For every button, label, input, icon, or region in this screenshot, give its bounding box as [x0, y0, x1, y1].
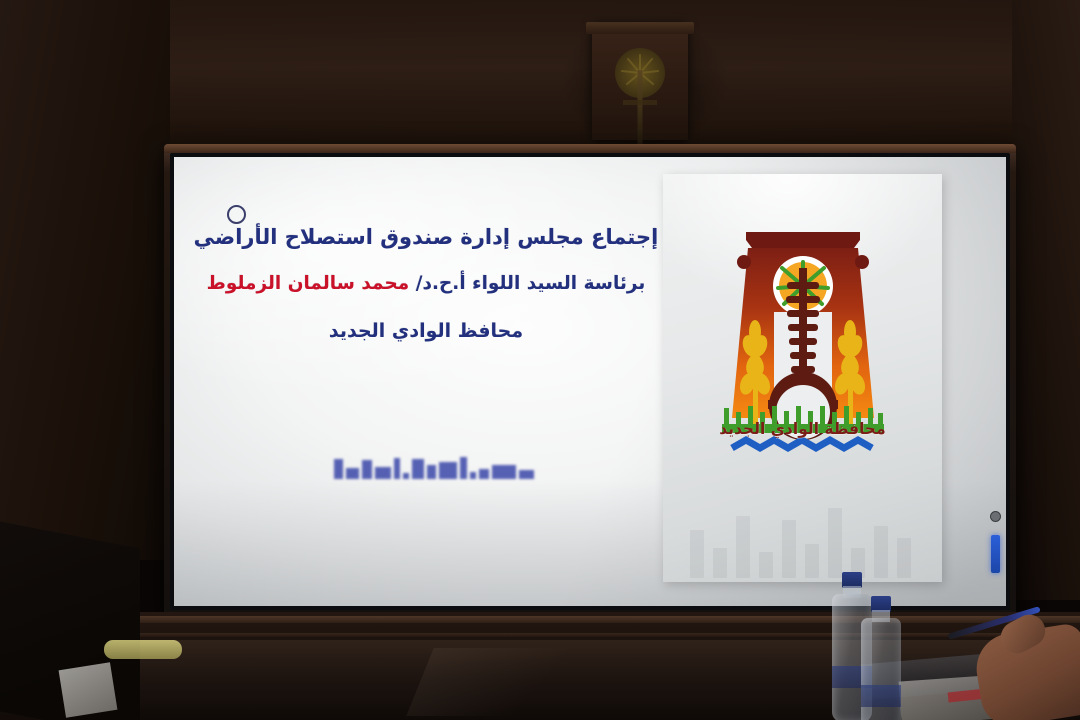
slide-line-2-blue: برئاسة السيد اللواء أ.ح.د/: [409, 273, 645, 294]
back-wall-right: [1012, 0, 1080, 600]
slide-line-2: برئاسة السيد اللواء أ.ح.د/ محمد سالمان ا…: [176, 273, 676, 294]
table-reflection: [406, 648, 633, 716]
redaction-block: [492, 465, 515, 479]
watermark-bar: [736, 516, 750, 578]
table-edge-highlight-2: [60, 633, 1080, 637]
slide-line-2-red: محمد سالمان الزملوط: [207, 273, 410, 294]
redaction-block: [460, 457, 467, 479]
plaque-stem: [638, 70, 643, 144]
power-led: [991, 535, 1000, 573]
redaction-block: [439, 462, 456, 479]
panel-watermark: [690, 500, 930, 578]
watermark-bar: [897, 538, 911, 578]
redaction-block: [519, 470, 535, 479]
redaction-block: [403, 473, 409, 479]
slide-bullet-marker: [227, 205, 246, 224]
bottle-label: [861, 685, 901, 707]
watermark-bar: [690, 530, 704, 578]
watermark-bar: [805, 544, 819, 578]
bottle-body: [861, 618, 901, 720]
redaction-block: [375, 467, 391, 479]
watermark-bar: [874, 526, 888, 578]
watermark-bar: [828, 508, 842, 578]
redaction-block: [412, 459, 424, 479]
redaction-block: [427, 465, 437, 479]
yellow-eraser: [104, 640, 182, 659]
watermark-bar: [782, 520, 796, 578]
plaque-crossbar: [623, 100, 657, 105]
wall-emblem-plaque: [592, 22, 688, 140]
watermark-bar: [713, 548, 727, 578]
conference-room-scene: إجتماع مجلس إدارة صندوق استصلاح الأراضي …: [0, 0, 1080, 720]
redaction-block: [362, 460, 372, 479]
redaction-block: [394, 458, 401, 479]
screen-menu-button[interactable]: [990, 511, 1001, 522]
redaction-block: [334, 459, 343, 479]
redaction-block: [479, 469, 490, 479]
slide-line-1: إجتماع مجلس إدارة صندوق استصلاح الأراضي: [176, 225, 676, 249]
plaque-cap: [586, 22, 694, 34]
slide-line-3: محافظ الوادي الجديد: [176, 320, 676, 342]
back-wall-left: [0, 0, 170, 560]
slide-text-block: إجتماع مجلس إدارة صندوق استصلاح الأراضي …: [176, 225, 676, 368]
redaction-block: [346, 468, 360, 479]
white-card: [59, 662, 118, 718]
screen-top-edge: [164, 144, 1016, 153]
redaction-block: [470, 472, 476, 479]
water-bottle: [861, 596, 901, 716]
table-edge-highlight: [60, 616, 1080, 623]
slide-line-4-redacted: [334, 449, 534, 479]
logo-caption: محافظة الوادي الجديد: [663, 420, 942, 438]
watermark-bar: [759, 552, 773, 578]
